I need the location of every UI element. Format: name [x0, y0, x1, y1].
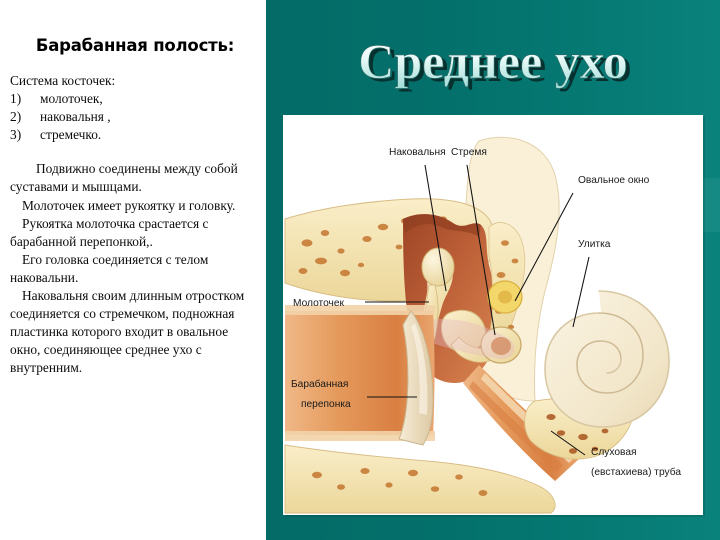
- list-item-label: наковальня ,: [40, 108, 258, 126]
- list-item-label: молоточек,: [40, 90, 258, 108]
- list-item: 3) стремечко.: [10, 126, 258, 144]
- list-item-number: 1): [10, 90, 40, 108]
- diagram-label-cochlea: Улитка: [578, 239, 611, 250]
- slide-root: Барабанная полость: Система косточек: 1)…: [0, 0, 720, 540]
- wordart-title-text: Среднее ухо: [358, 33, 628, 89]
- list-item-number: 2): [10, 108, 40, 126]
- cochlea: [545, 291, 669, 427]
- diagram-label-malleus: Молоточек: [293, 298, 345, 309]
- ear-anatomy-diagram: Наковальня Стремя Овальное окно Улитка М…: [283, 115, 703, 515]
- wordart-title-svg: Среднее ухо Среднее ухо: [313, 30, 673, 98]
- intro-line: Система косточек:: [10, 72, 258, 90]
- anatomy-artwork: Наковальня Стремя Овальное окно Улитка М…: [285, 137, 681, 513]
- diagram-label-eardrum-line2: перепонка: [301, 399, 351, 410]
- oval-window-inner: [498, 291, 512, 304]
- list-item-label: стремечко.: [40, 126, 258, 144]
- diagram-label-eardrum-line1: Барабанная: [291, 378, 348, 390]
- page-title: Барабанная полость:: [8, 36, 262, 55]
- diagram-label-tube-line1: Слуховая: [591, 447, 637, 458]
- list-item: 2) наковальня ,: [10, 108, 258, 126]
- spacer: [10, 144, 258, 160]
- diagram-label-incus: Наковальня: [389, 147, 446, 158]
- paragraph: Молоточек имеет рукоятку и головку.: [10, 197, 258, 215]
- wordart-title: Среднее ухо Среднее ухо: [266, 28, 720, 100]
- paragraph: Подвижно соединены между собой суставами…: [10, 160, 258, 196]
- ear-anatomy-svg: Наковальня Стремя Овальное окно Улитка М…: [283, 115, 703, 515]
- body-text-block: Система косточек: 1) молоточек, 2) наков…: [10, 72, 258, 378]
- diagram-label-tube-line2: (евстахиева) труба: [591, 466, 681, 478]
- paragraph: Его головка соединяется с телом наковаль…: [10, 251, 258, 287]
- diagram-label-oval-window: Овальное окно: [578, 175, 650, 186]
- diagram-label-stapes: Стремя: [451, 147, 487, 158]
- paragraph: Наковальня своим длинным отростком соеди…: [10, 287, 258, 377]
- list-item: 1) молоточек,: [10, 90, 258, 108]
- list-item-number: 3): [10, 126, 40, 144]
- malleus-head: [422, 248, 454, 286]
- paragraph: Рукоятка молоточка срастается с барабанн…: [10, 215, 258, 251]
- temporal-bone-lower: [285, 445, 555, 513]
- left-text-column: Барабанная полость: Система косточек: 1)…: [0, 0, 266, 540]
